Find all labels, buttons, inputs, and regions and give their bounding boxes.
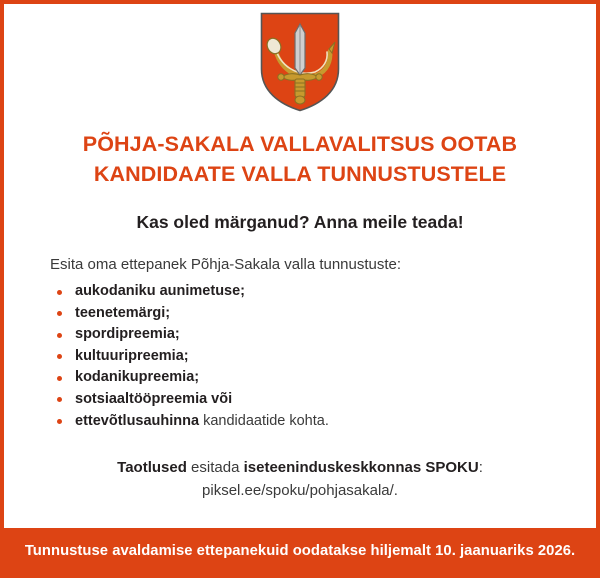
list-item: kultuuripreemia; <box>50 346 596 368</box>
list-item: kodanikupreemia; <box>50 367 596 389</box>
pohja-sakala-coat-of-arms-icon <box>259 11 341 113</box>
list-item: teenetemärgi; <box>50 303 596 325</box>
intro-text: Esita oma ettepanek Põhja-Sakala valla t… <box>50 255 596 275</box>
page-title-line-2: KANDIDAATE VALLA TUNNUSTUSTELE <box>4 159 596 189</box>
apply-colon: : <box>479 459 483 476</box>
deadline-banner: Tunnustuse avaldamise ettepanekuid oodat… <box>4 528 596 574</box>
bullet-icon <box>57 354 62 359</box>
award-label: sotsiaaltööpreemia või <box>75 391 232 407</box>
bullet-icon <box>57 333 62 338</box>
apply-keyword: Taotlused <box>117 459 187 476</box>
list-item: aukodaniku aunimetuse; <box>50 281 596 303</box>
bullet-icon <box>57 376 62 381</box>
bullet-icon <box>57 290 62 295</box>
deadline-text: Tunnustuse avaldamise ettepanekuid oodat… <box>25 543 575 559</box>
award-label: kodanikupreemia; <box>75 369 199 385</box>
bullet-icon <box>57 311 62 316</box>
list-item: sotsiaaltööpreemia või <box>50 389 596 411</box>
list-item: ettevõtlusauhinna kandidaatide kohta. <box>50 411 596 433</box>
bullet-icon <box>57 419 62 424</box>
page-title: PÕHJA-SAKALA VALLAVALITSUS OOTAB KANDIDA… <box>4 129 596 189</box>
page-title-line-1: PÕHJA-SAKALA VALLAVALITSUS OOTAB <box>4 129 596 159</box>
body-content: Esita oma ettepanek Põhja-Sakala valla t… <box>4 255 596 432</box>
list-item: spordipreemia; <box>50 324 596 346</box>
award-label: spordipreemia; <box>75 326 180 342</box>
page-subtitle: Kas oled märganud? Anna meile teada! <box>4 211 596 233</box>
apply-instructions: Taotlused esitada iseteeninduskeskkonnas… <box>4 456 596 502</box>
spoku-url[interactable]: piksel.ee/spoku/pohjasakala/. <box>4 479 596 502</box>
awards-list: aukodaniku aunimetuse; teenetemärgi; spo… <box>50 281 596 432</box>
award-label: aukodaniku aunimetuse; <box>75 283 245 299</box>
crest-container <box>4 4 596 113</box>
award-label: ettevõtlusauhinna <box>75 413 199 429</box>
bullet-icon <box>57 397 62 402</box>
award-label: kultuuripreemia; <box>75 348 189 364</box>
apply-channel: iseteeninduskeskkonnas SPOKU <box>244 459 479 476</box>
award-label: teenetemärgi; <box>75 305 170 321</box>
apply-mid: esitada <box>187 459 244 476</box>
award-tail: kandidaatide kohta. <box>199 413 329 429</box>
announcement-poster: PÕHJA-SAKALA VALLAVALITSUS OOTAB KANDIDA… <box>0 0 600 578</box>
